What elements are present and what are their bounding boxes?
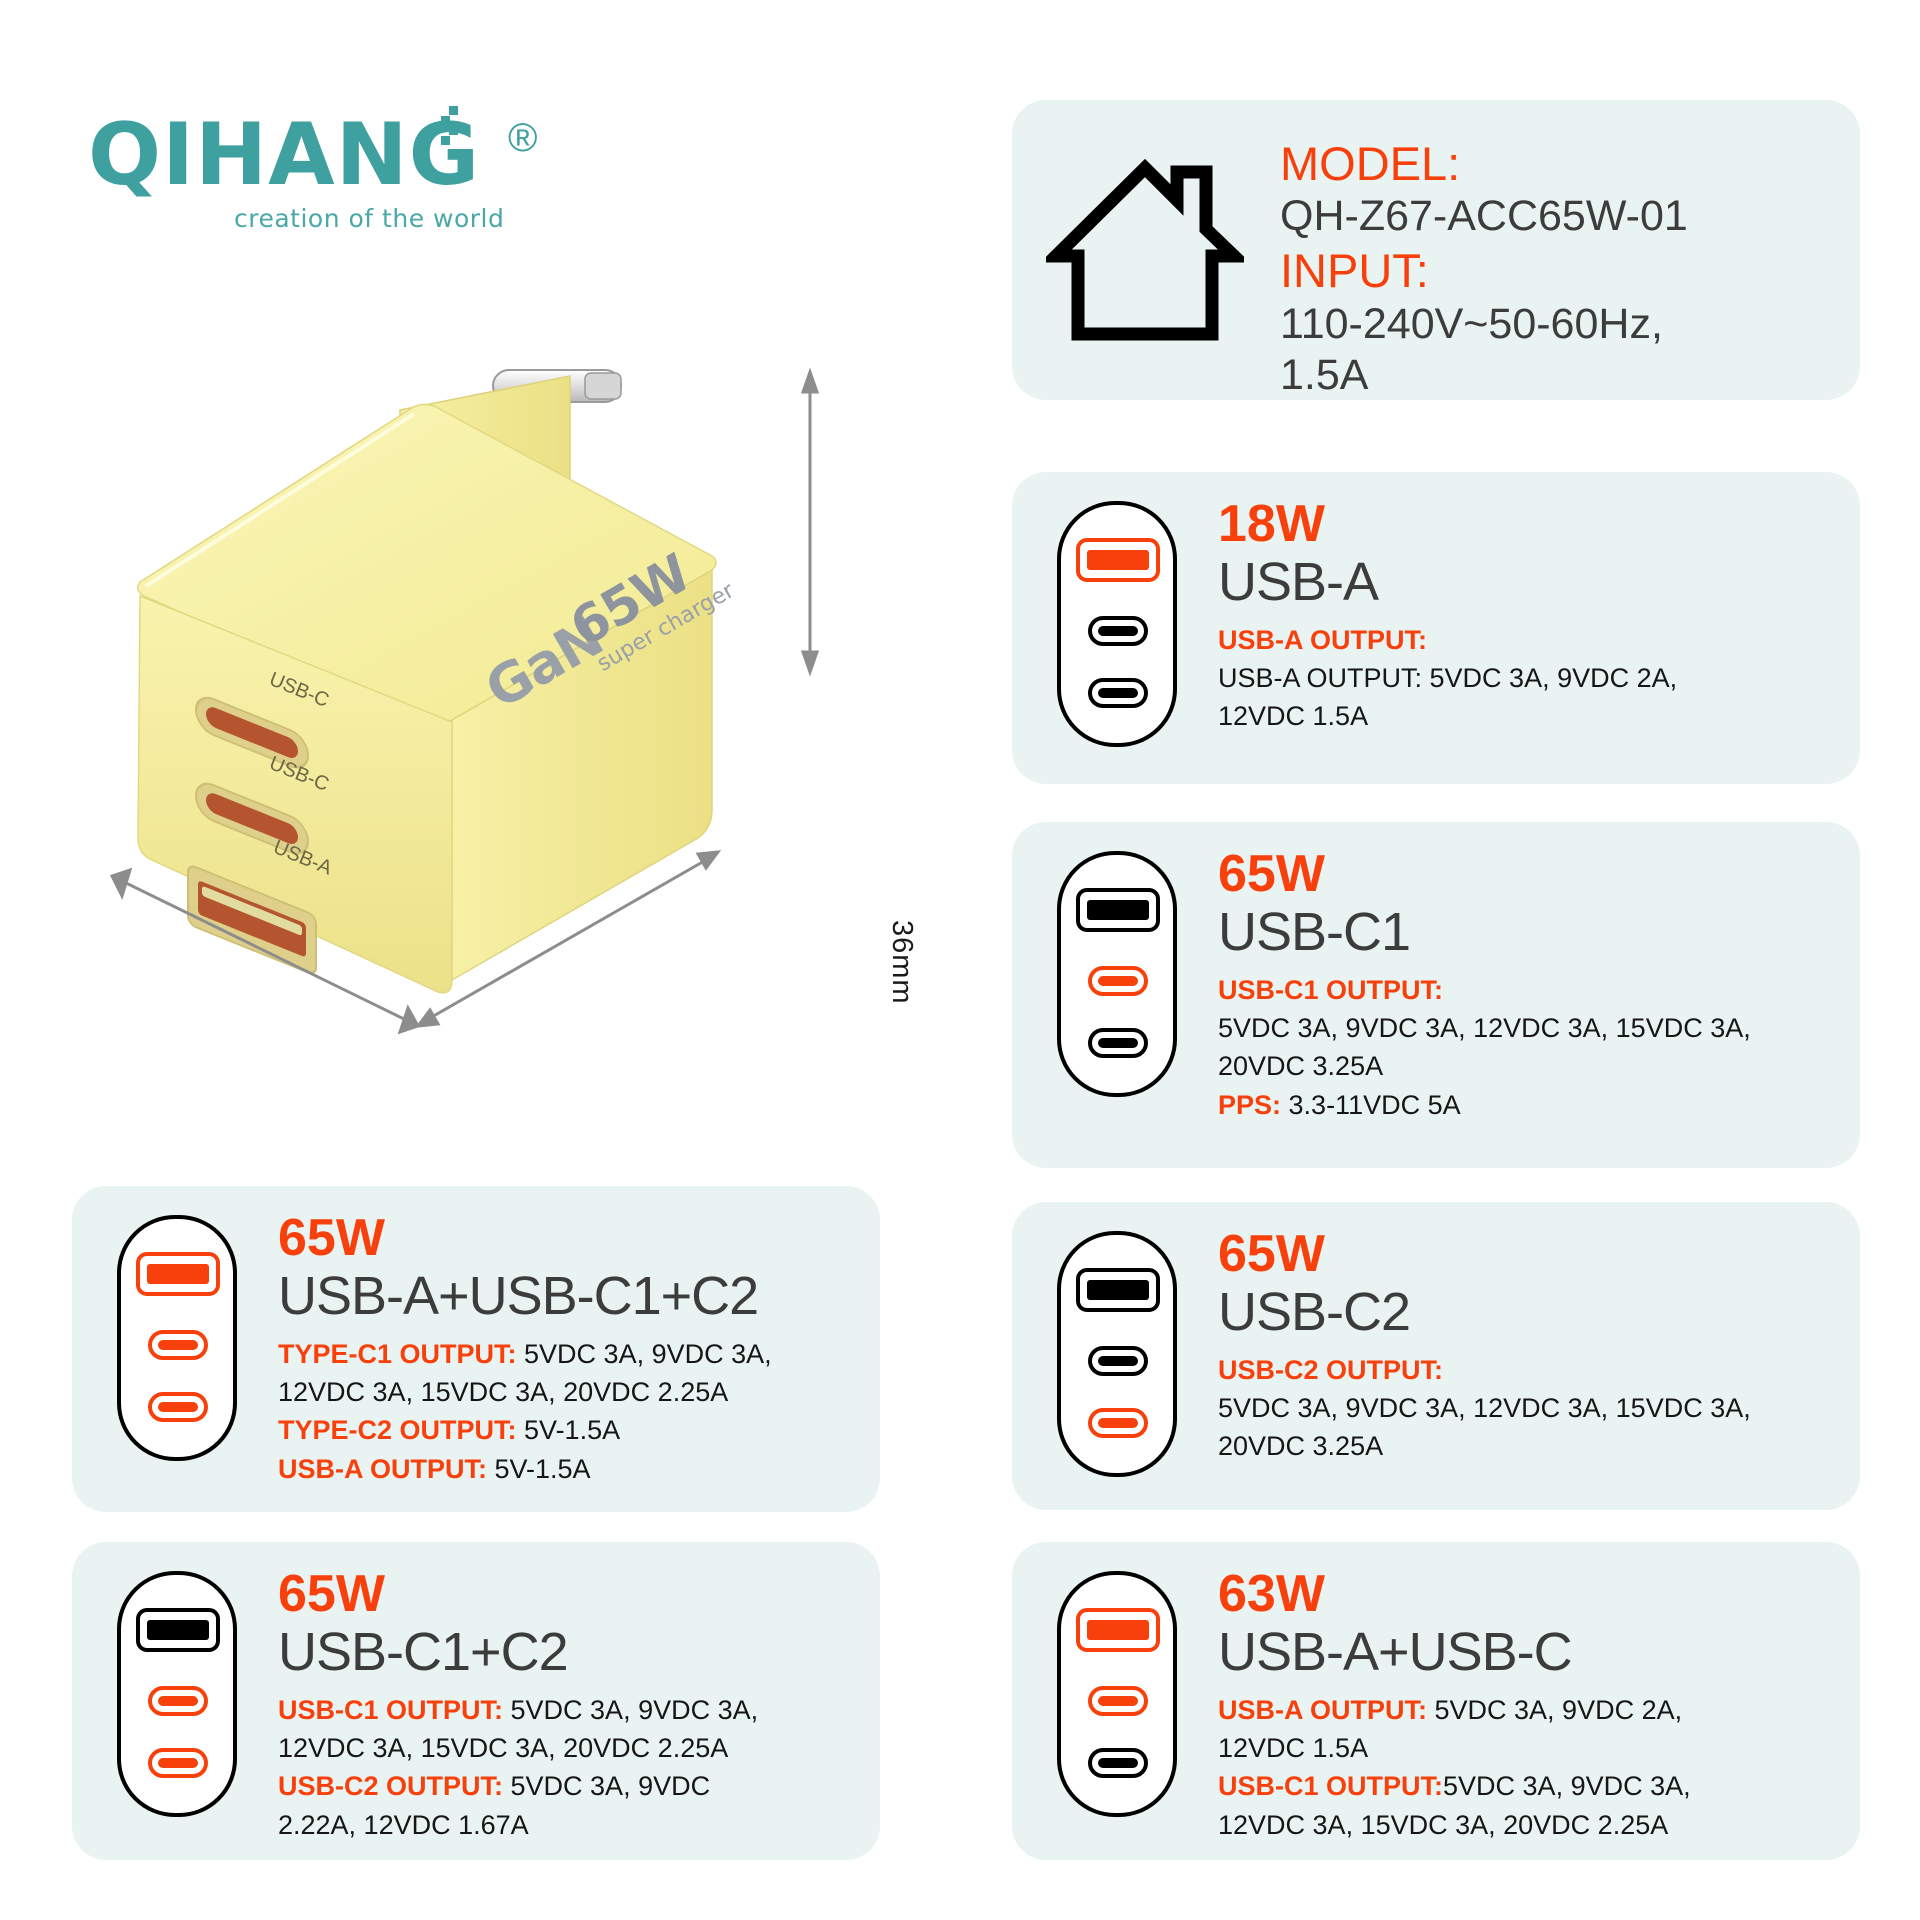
charger-port-diagram-icon <box>1042 498 1192 750</box>
input-value-line-2: 1.5A <box>1280 350 1826 402</box>
spec-label: USB-A OUTPUT: <box>1218 1695 1427 1725</box>
model-label: MODEL: <box>1280 136 1826 191</box>
spec-line: USB-C1 OUTPUT:5VDC 3A, 9VDC 3A, <box>1218 1767 1830 1805</box>
brand-name: QIHANG <box>88 112 480 198</box>
spec-label: USB-C2 OUTPUT: <box>278 1771 503 1801</box>
spec-label: TYPE-C1 OUTPUT: <box>278 1339 517 1369</box>
charger-port-diagram-icon <box>102 1212 252 1464</box>
card-port-icon <box>1042 1568 1192 1834</box>
spec-line: USB-A OUTPUT: 5VDC 3A, 9VDC 2A, <box>1218 659 1830 697</box>
spec-label: USB-A OUTPUT: <box>1218 621 1830 659</box>
spec-line: 5VDC 3A, 9VDC 3A, 12VDC 3A, 15VDC 3A, <box>1218 1009 1830 1047</box>
brand-logo: QIHANG ® creation of the world <box>88 112 608 252</box>
charger-illustration: GaN 65W super charger USB-C USB-C USB-A <box>100 360 940 1100</box>
spec-card-usb-c2-65w: 65W USB-C2 USB-C2 OUTPUT:5VDC 3A, 9VDC 3… <box>1012 1202 1860 1510</box>
spec-label: USB-C1 OUTPUT: <box>1218 971 1830 1009</box>
spec-line: USB-C2 OUTPUT: 5VDC 3A, 9VDC <box>278 1767 850 1805</box>
spec-line: 12VDC 3A, 15VDC 3A, 20VDC 2.25A <box>278 1373 850 1411</box>
spec-line: 5VDC 3A, 9VDC 3A, 12VDC 3A, 15VDC 3A, <box>1218 1389 1830 1427</box>
model-info-card: MODEL: QH-Z67-ACC65W-01 INPUT: 110-240V~… <box>1012 100 1860 400</box>
spec-line: 12VDC 3A, 15VDC 3A, 20VDC 2.25A <box>1218 1806 1830 1844</box>
card-port-icon <box>1042 848 1192 1142</box>
registered-trademark-icon: ® <box>508 118 537 158</box>
spec-line: 12VDC 3A, 15VDC 3A, 20VDC 2.25A <box>278 1729 850 1767</box>
wattage-badge: 65W <box>1218 848 1830 900</box>
spec-line: 2.22A, 12VDC 1.67A <box>278 1806 850 1844</box>
wattage-badge: 65W <box>278 1568 850 1620</box>
card-port-icon <box>1042 498 1192 758</box>
port-combination-title: USB-C1+C2 <box>278 1624 850 1681</box>
port-combination-title: USB-A <box>1218 554 1830 611</box>
spec-card-usb-a-usb-c-63w: 63W USB-A+USB-C USB-A OUTPUT: 5VDC 3A, 9… <box>1012 1542 1860 1860</box>
port-combination-title: USB-C1 <box>1218 904 1830 961</box>
spec-card-usb-c1-c2-65w: 65W USB-C1+C2 USB-C1 OUTPUT: 5VDC 3A, 9V… <box>72 1542 880 1860</box>
spec-label: USB-C2 OUTPUT: <box>1218 1351 1830 1389</box>
wattage-badge: 65W <box>278 1212 850 1264</box>
spec-card-usb-a-c1-c2-65w: 65W USB-A+USB-C1+C2 TYPE-C1 OUTPUT: 5VDC… <box>72 1186 880 1512</box>
dimension-arrow-36mm <box>803 372 817 672</box>
spec-line: TYPE-C1 OUTPUT: 5VDC 3A, 9VDC 3A, <box>278 1335 850 1373</box>
charger-port-diagram-icon <box>1042 1568 1192 1820</box>
spec-line: 12VDC 1.5A <box>1218 1729 1830 1767</box>
wattage-badge: 65W <box>1218 1228 1830 1280</box>
spec-line: TYPE-C2 OUTPUT: 5V-1.5A <box>278 1411 850 1449</box>
charger-port-diagram-icon <box>1042 848 1192 1100</box>
charger-port-diagram-icon <box>102 1568 252 1820</box>
logo-pixel-dots-icon <box>433 106 459 146</box>
spec-card-usb-a-18w: 18W USB-A USB-A OUTPUT:USB-A OUTPUT: 5VD… <box>1012 472 1860 784</box>
spec-label: USB-C1 OUTPUT: <box>1218 1771 1443 1801</box>
spec-label: USB-A OUTPUT: <box>278 1454 487 1484</box>
input-value-line-1: 110-240V~50-60Hz, <box>1280 299 1826 351</box>
spec-line: USB-A OUTPUT: 5VDC 3A, 9VDC 2A, <box>1218 1691 1830 1729</box>
spec-line: 12VDC 1.5A <box>1218 697 1830 735</box>
spec-label: PPS: <box>1218 1090 1281 1120</box>
dimension-label-height: 36mm <box>885 920 918 1005</box>
port-combination-title: USB-A+USB-C1+C2 <box>278 1268 850 1325</box>
brand-tagline: creation of the world <box>234 204 608 233</box>
card-port-icon <box>1042 1228 1192 1484</box>
port-combination-title: USB-C2 <box>1218 1284 1830 1341</box>
charger-port-diagram-icon <box>1042 1228 1192 1480</box>
house-icon <box>1046 144 1244 344</box>
spec-line: USB-A OUTPUT: 5V-1.5A <box>278 1450 850 1488</box>
spec-line: PPS: 3.3-11VDC 5A <box>1218 1086 1830 1124</box>
card-port-icon <box>102 1212 252 1486</box>
spec-label: TYPE-C2 OUTPUT: <box>278 1415 517 1445</box>
wattage-badge: 18W <box>1218 498 1830 550</box>
product-photo: GaN 65W super charger USB-C USB-C USB-A <box>100 360 940 1100</box>
spec-line: 20VDC 3.25A <box>1218 1427 1830 1465</box>
spec-line: USB-C1 OUTPUT: 5VDC 3A, 9VDC 3A, <box>278 1691 850 1729</box>
spec-card-usb-c1-65w: 65W USB-C1 USB-C1 OUTPUT:5VDC 3A, 9VDC 3… <box>1012 822 1860 1168</box>
infographic-page: QIHANG ® creation of the world <box>0 0 1920 1920</box>
spec-line: 20VDC 3.25A <box>1218 1047 1830 1085</box>
port-combination-title: USB-A+USB-C <box>1218 1624 1830 1681</box>
wattage-badge: 63W <box>1218 1568 1830 1620</box>
model-value: QH-Z67-ACC65W-01 <box>1280 191 1826 243</box>
card-port-icon <box>102 1568 252 1834</box>
input-label: INPUT: <box>1280 243 1826 298</box>
spec-label: USB-C1 OUTPUT: <box>278 1695 503 1725</box>
